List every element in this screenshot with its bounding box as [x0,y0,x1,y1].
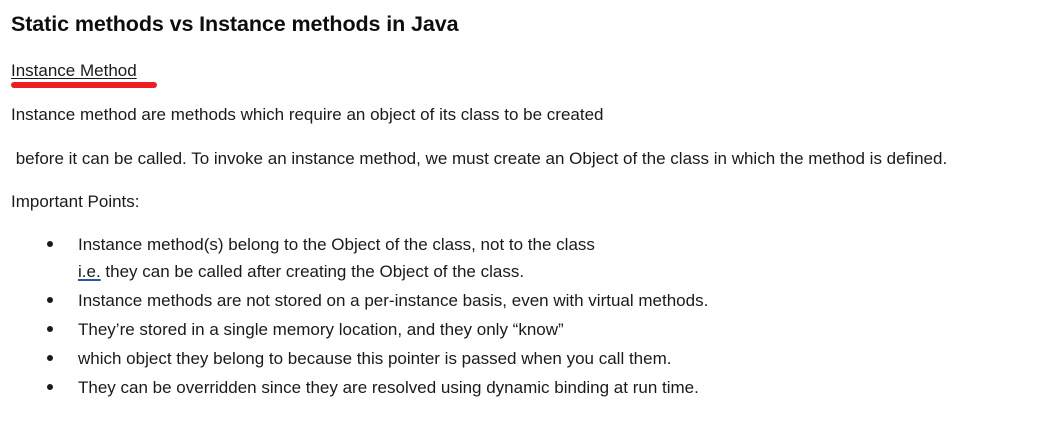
paragraph-line-1: Instance method are methods which requir… [11,104,604,126]
paragraph-line-2: before it can be called. To invoke an in… [11,148,947,170]
bullet-list: Instance method(s) belong to the Object … [0,231,1062,403]
important-points-label: Important Points: [11,191,140,213]
list-item-text: which object they belong to because this… [78,345,1062,372]
page-title: Static methods vs Instance methods in Ja… [11,12,458,37]
bullet-dot-icon [47,355,53,361]
list-item-text: They can be overridden since they are re… [78,374,1062,401]
list-item-subline: i.e. they can be called after creating t… [78,258,1062,285]
list-item: which object they belong to because this… [0,345,1062,372]
red-highlight-stroke [11,82,157,88]
subheading-group: Instance Method [11,61,137,91]
list-item: They’re stored in a single memory locati… [0,316,1062,343]
bullet-dot-icon [47,241,53,247]
list-item-subline-rest: they can be called after creating the Ob… [101,262,524,281]
list-item: Instance methods are not stored on a per… [0,287,1062,314]
document-page: Static methods vs Instance methods in Ja… [0,0,1062,440]
list-item: Instance method(s) belong to the Object … [0,231,1062,285]
list-item-text: Instance method(s) belong to the Object … [78,231,1062,258]
list-item-text: Instance methods are not stored on a per… [78,287,1062,314]
grammar-underlined-text: i.e. [78,262,101,281]
list-item: They can be overridden since they are re… [0,374,1062,401]
bullet-dot-icon [47,384,53,390]
section-heading: Instance Method [11,61,137,81]
bullet-dot-icon [47,297,53,303]
list-item-text: They’re stored in a single memory locati… [78,316,1062,343]
bullet-dot-icon [47,326,53,332]
